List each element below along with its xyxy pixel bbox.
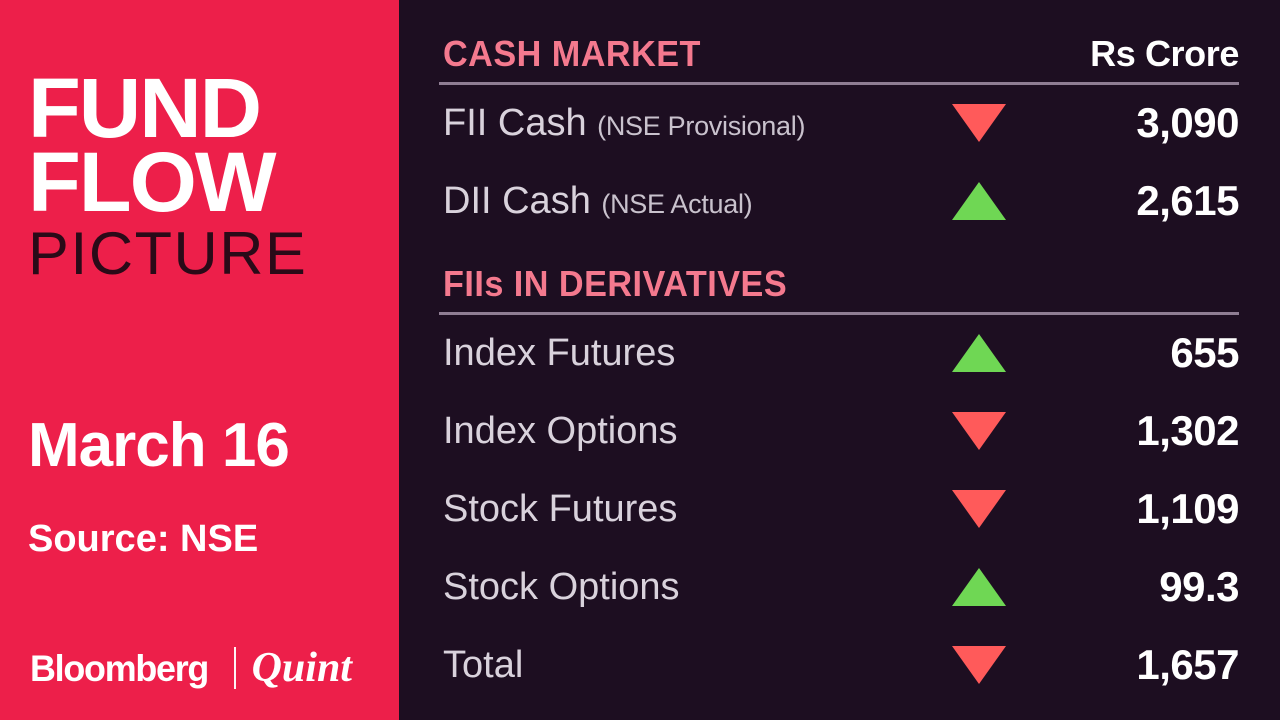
row-label-sub: (NSE Actual) <box>601 189 752 219</box>
row-label-main: Total <box>443 644 523 686</box>
row-value: 99.3 <box>1159 556 1239 618</box>
data-panel: CASH MARKET Rs Crore FII Cash (NSE Provi… <box>399 0 1280 720</box>
section-header: CASH MARKET Rs Crore <box>439 32 1239 86</box>
row-label-main: Stock Options <box>443 566 680 608</box>
triangle-up-icon <box>952 182 1006 220</box>
brand-line-flow: FLOW <box>28 146 389 218</box>
row-label: Total <box>443 634 523 696</box>
table-row: Stock Options 99.3 <box>439 556 1239 634</box>
logo-divider-icon <box>234 647 236 689</box>
row-label-main: Index Options <box>443 410 677 452</box>
triangle-up-icon <box>952 334 1006 372</box>
section-cash-market: CASH MARKET Rs Crore FII Cash (NSE Provi… <box>439 32 1239 86</box>
derivatives-rows: Index Futures 655 Index Options 1,302 St… <box>439 322 1239 712</box>
brand-line-picture: PICTURE <box>28 224 385 284</box>
report-date: March 16 <box>28 415 378 477</box>
row-label-main: DII Cash <box>443 180 591 222</box>
row-label: Stock Futures <box>443 478 677 540</box>
data-source-label: Source: NSE <box>28 520 378 558</box>
row-label-main: Stock Futures <box>443 488 677 530</box>
table-row: FII Cash (NSE Provisional) 3,090 <box>439 92 1239 170</box>
left-branding-panel: FUND FLOW PICTURE March 16 Source: NSE B… <box>0 0 399 720</box>
triangle-down-icon <box>952 412 1006 450</box>
table-row: Stock Futures 1,109 <box>439 478 1239 556</box>
triangle-down-icon <box>952 104 1006 142</box>
brand-title-block: FUND FLOW PICTURE <box>28 72 378 284</box>
row-label-sub: (NSE Provisional) <box>597 111 805 141</box>
row-label: Index Futures <box>443 322 675 384</box>
table-row: Index Options 1,302 <box>439 400 1239 478</box>
row-value: 655 <box>1170 322 1239 384</box>
table-row: Total 1,657 <box>439 634 1239 712</box>
section-title: CASH MARKET <box>443 32 701 76</box>
section-unit-label: Rs Crore <box>1090 32 1239 76</box>
section-fiis-in-derivatives: FIIs IN DERIVATIVES Index Futures 655 In… <box>439 262 1239 316</box>
cash-market-rows: FII Cash (NSE Provisional) 3,090 DII Cas… <box>439 92 1239 248</box>
triangle-down-icon <box>952 646 1006 684</box>
section-title: FIIs IN DERIVATIVES <box>443 262 787 306</box>
triangle-down-icon <box>952 490 1006 528</box>
section-header: FIIs IN DERIVATIVES <box>439 262 1239 316</box>
section-divider <box>439 312 1239 315</box>
row-label: Stock Options <box>443 556 680 618</box>
row-label-main: Index Futures <box>443 332 675 374</box>
row-value: 3,090 <box>1136 92 1239 154</box>
bloomberg-wordmark: Bloomberg <box>30 650 208 687</box>
row-value: 2,615 <box>1136 170 1239 232</box>
publisher-logo: Bloomberg Quint <box>30 645 352 691</box>
table-row: DII Cash (NSE Actual) 2,615 <box>439 170 1239 248</box>
fund-flow-infographic: FUND FLOW PICTURE March 16 Source: NSE B… <box>0 0 1280 720</box>
row-value: 1,657 <box>1136 634 1239 696</box>
triangle-up-icon <box>952 568 1006 606</box>
section-divider <box>439 82 1239 85</box>
quint-wordmark: Quint <box>252 647 352 689</box>
brand-line-fund: FUND <box>28 72 389 144</box>
row-label-main: FII Cash <box>443 102 587 144</box>
row-label: Index Options <box>443 400 677 462</box>
row-label: FII Cash (NSE Provisional) <box>443 92 805 157</box>
table-row: Index Futures 655 <box>439 322 1239 400</box>
row-value: 1,109 <box>1136 478 1239 540</box>
row-value: 1,302 <box>1136 400 1239 462</box>
row-label: DII Cash (NSE Actual) <box>443 170 752 235</box>
